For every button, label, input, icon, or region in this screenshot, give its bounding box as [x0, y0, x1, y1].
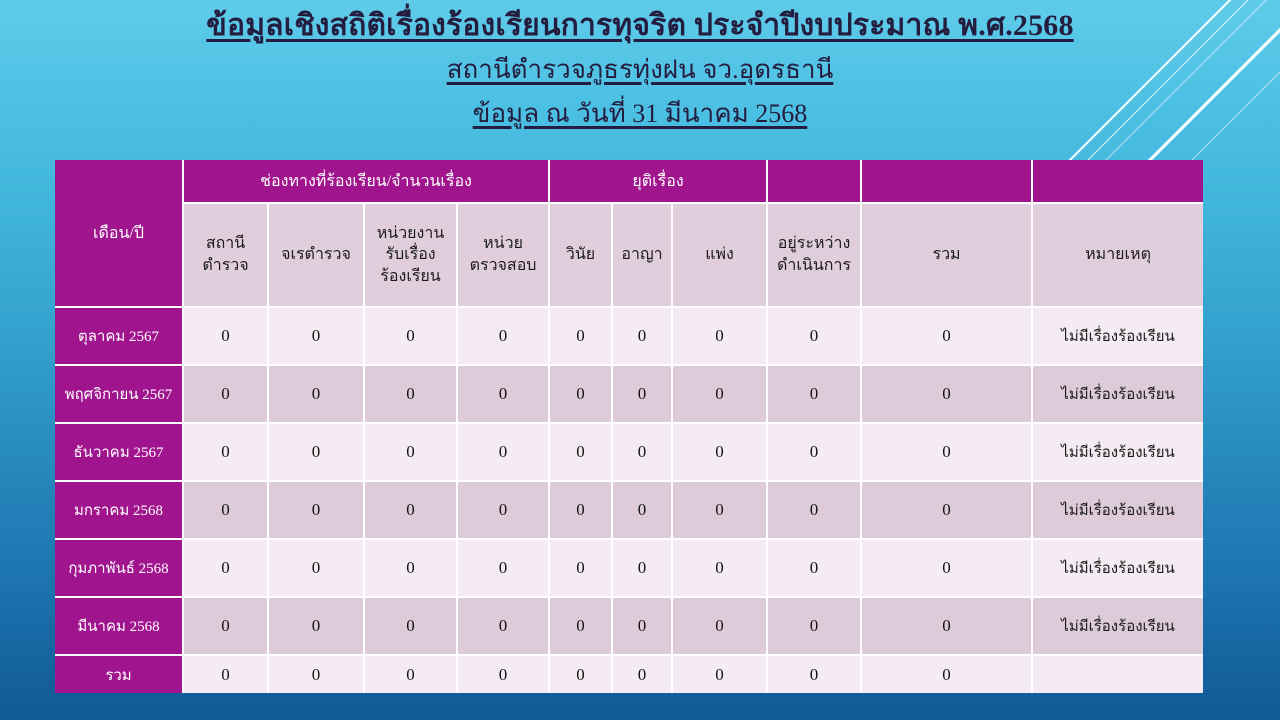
page-subtitle: สถานีตำรวจภูธรทุ่งฝน จว.อุดรธานี: [0, 48, 1280, 92]
table-group-header-row: เดือน/ปี ช่องทางที่ร้องเรียน/จำนวนเรื่อง…: [55, 160, 1203, 204]
cell-value: 0: [673, 540, 768, 598]
cell-value: 0: [673, 366, 768, 424]
table-row: กุมภาพันธ์ 2568000000000ไม่มีเรื่องร้องเ…: [55, 540, 1203, 598]
cell-value: 0: [862, 366, 1033, 424]
cell-value: 0: [458, 656, 550, 693]
header-group-blank-total: [862, 160, 1033, 204]
cell-value: 0: [550, 656, 613, 693]
table-head: เดือน/ปี ช่องทางที่ร้องเรียน/จำนวนเรื่อง…: [55, 160, 1203, 308]
table-row: พฤศจิกายน 2567000000000ไม่มีเรื่องร้องเร…: [55, 366, 1203, 424]
page-title: ข้อมูลเชิงสถิติเรื่องร้องเรียนการทุจริต …: [0, 4, 1280, 48]
cell-value: 0: [673, 656, 768, 693]
cell-value: 0: [862, 540, 1033, 598]
cell-value: 0: [365, 540, 458, 598]
cell-value: 0: [862, 424, 1033, 482]
table-total-row: รวม000000000: [55, 656, 1203, 693]
page-asof-date: ข้อมูล ณ วันที่ 31 มีนาคม 2568: [0, 92, 1280, 136]
row-label-month: ธันวาคม 2567: [55, 424, 184, 482]
table-row: ธันวาคม 2567000000000ไม่มีเรื่องร้องเรีย…: [55, 424, 1203, 482]
cell-value: 0: [550, 598, 613, 656]
cell-value: 0: [184, 656, 269, 693]
cell-value: 0: [458, 482, 550, 540]
cell-value: 0: [768, 366, 862, 424]
cell-value: 0: [613, 540, 673, 598]
cell-remark: ไม่มีเรื่องร้องเรียน: [1033, 540, 1203, 598]
table-column-header-row: สถานีตำรวจ จเรตำรวจ หน่วยงานรับเรื่องร้อ…: [55, 204, 1203, 308]
cell-value: 0: [365, 656, 458, 693]
cell-value: 0: [184, 540, 269, 598]
cell-value: 0: [613, 366, 673, 424]
table-row: มกราคม 2568000000000ไม่มีเรื่องร้องเรียน: [55, 482, 1203, 540]
header-month-year: เดือน/ปี: [55, 160, 184, 308]
row-label-month: ตุลาคม 2567: [55, 308, 184, 366]
row-label-month: กุมภาพันธ์ 2568: [55, 540, 184, 598]
header-col-civil: แพ่ง: [673, 204, 768, 308]
cell-value: 0: [458, 366, 550, 424]
row-label-month: มีนาคม 2568: [55, 598, 184, 656]
cell-value: 0: [458, 308, 550, 366]
cell-value: 0: [613, 424, 673, 482]
cell-value: 0: [184, 308, 269, 366]
statistics-table-container: เดือน/ปี ช่องทางที่ร้องเรียน/จำนวนเรื่อง…: [55, 160, 1203, 693]
complaint-statistics-table: เดือน/ปี ช่องทางที่ร้องเรียน/จำนวนเรื่อง…: [55, 160, 1203, 693]
cell-value: 0: [365, 598, 458, 656]
cell-value: 0: [365, 482, 458, 540]
header-col-police-station: สถานีตำรวจ: [184, 204, 269, 308]
cell-remark: ไม่มีเรื่องร้องเรียน: [1033, 308, 1203, 366]
cell-value: 0: [269, 598, 365, 656]
cell-value: 0: [673, 424, 768, 482]
cell-remark: [1033, 656, 1203, 693]
cell-value: 0: [673, 482, 768, 540]
row-label-month: มกราคม 2568: [55, 482, 184, 540]
cell-value: 0: [768, 424, 862, 482]
row-label-month: พฤศจิกายน 2567: [55, 366, 184, 424]
cell-value: 0: [862, 656, 1033, 693]
cell-value: 0: [862, 598, 1033, 656]
cell-value: 0: [862, 308, 1033, 366]
row-label-total: รวม: [55, 656, 184, 693]
table-row: ตุลาคม 2567000000000ไม่มีเรื่องร้องเรียน: [55, 308, 1203, 366]
cell-value: 0: [768, 656, 862, 693]
header-col-remark: หมายเหตุ: [1033, 204, 1203, 308]
cell-value: 0: [458, 540, 550, 598]
cell-value: 0: [184, 482, 269, 540]
cell-value: 0: [365, 308, 458, 366]
header-col-criminal: อาญา: [613, 204, 673, 308]
cell-value: 0: [613, 656, 673, 693]
cell-value: 0: [673, 308, 768, 366]
cell-value: 0: [613, 308, 673, 366]
cell-remark: ไม่มีเรื่องร้องเรียน: [1033, 482, 1203, 540]
header-group-complaint-channels: ช่องทางที่ร้องเรียน/จำนวนเรื่อง: [184, 160, 550, 204]
cell-remark: ไม่มีเรื่องร้องเรียน: [1033, 366, 1203, 424]
cell-value: 0: [269, 482, 365, 540]
cell-value: 0: [269, 424, 365, 482]
cell-value: 0: [269, 308, 365, 366]
cell-value: 0: [365, 366, 458, 424]
cell-value: 0: [269, 540, 365, 598]
cell-remark: ไม่มีเรื่องร้องเรียน: [1033, 424, 1203, 482]
cell-value: 0: [673, 598, 768, 656]
table-row: มีนาคม 2568000000000ไม่มีเรื่องร้องเรียน: [55, 598, 1203, 656]
cell-value: 0: [768, 540, 862, 598]
header-col-total: รวม: [862, 204, 1033, 308]
cell-value: 0: [184, 598, 269, 656]
cell-value: 0: [550, 424, 613, 482]
cell-value: 0: [550, 482, 613, 540]
cell-value: 0: [550, 308, 613, 366]
cell-remark: ไม่มีเรื่องร้องเรียน: [1033, 598, 1203, 656]
cell-value: 0: [768, 482, 862, 540]
header-col-disciplinary: วินัย: [550, 204, 613, 308]
cell-value: 0: [550, 540, 613, 598]
cell-value: 0: [458, 424, 550, 482]
cell-value: 0: [550, 366, 613, 424]
cell-value: 0: [269, 366, 365, 424]
cell-value: 0: [613, 598, 673, 656]
table-body: ตุลาคม 2567000000000ไม่มีเรื่องร้องเรียน…: [55, 308, 1203, 693]
cell-value: 0: [458, 598, 550, 656]
header-col-audit-unit: หน่วยตรวจสอบ: [458, 204, 550, 308]
cell-value: 0: [184, 424, 269, 482]
cell-value: 0: [269, 656, 365, 693]
header-group-case-closed: ยุติเรื่อง: [550, 160, 768, 204]
header-group-blank-inprogress: [768, 160, 862, 204]
cell-value: 0: [862, 482, 1033, 540]
cell-value: 0: [365, 424, 458, 482]
title-block: ข้อมูลเชิงสถิติเรื่องร้องเรียนการทุจริต …: [0, 0, 1280, 136]
header-col-police-inspector: จเรตำรวจ: [269, 204, 365, 308]
header-group-blank-remark: [1033, 160, 1203, 204]
cell-value: 0: [768, 308, 862, 366]
cell-value: 0: [613, 482, 673, 540]
cell-value: 0: [768, 598, 862, 656]
header-col-in-progress: อยู่ระหว่างดำเนินการ: [768, 204, 862, 308]
cell-value: 0: [184, 366, 269, 424]
header-col-receiving-agency: หน่วยงานรับเรื่องร้องเรียน: [365, 204, 458, 308]
